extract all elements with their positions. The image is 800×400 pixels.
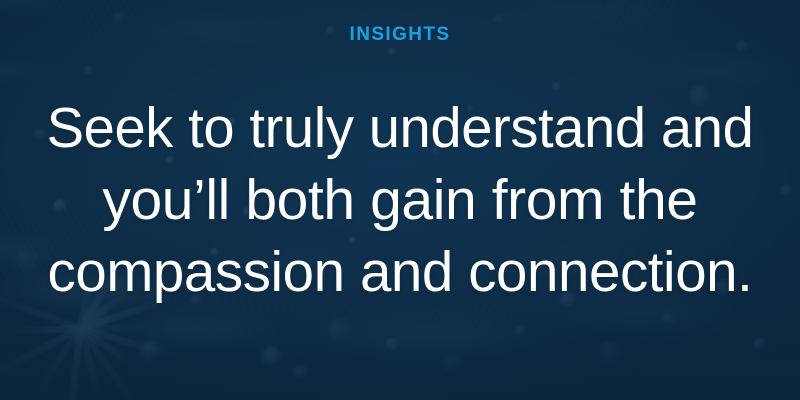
quote-line-3: compassion and connection.	[44, 236, 757, 308]
insights-quote-card: INSIGHTS Seek to truly understand and yo…	[0, 0, 800, 400]
quote-line-1: Seek to truly understand and	[45, 92, 754, 164]
card-content: INSIGHTS Seek to truly understand and yo…	[0, 0, 800, 400]
quote-text-block: Seek to truly understand and you’ll both…	[20, 92, 780, 308]
eyebrow-label-insights: INSIGHTS	[350, 25, 451, 44]
quote-line-2: you’ll both gain from the	[40, 164, 760, 236]
